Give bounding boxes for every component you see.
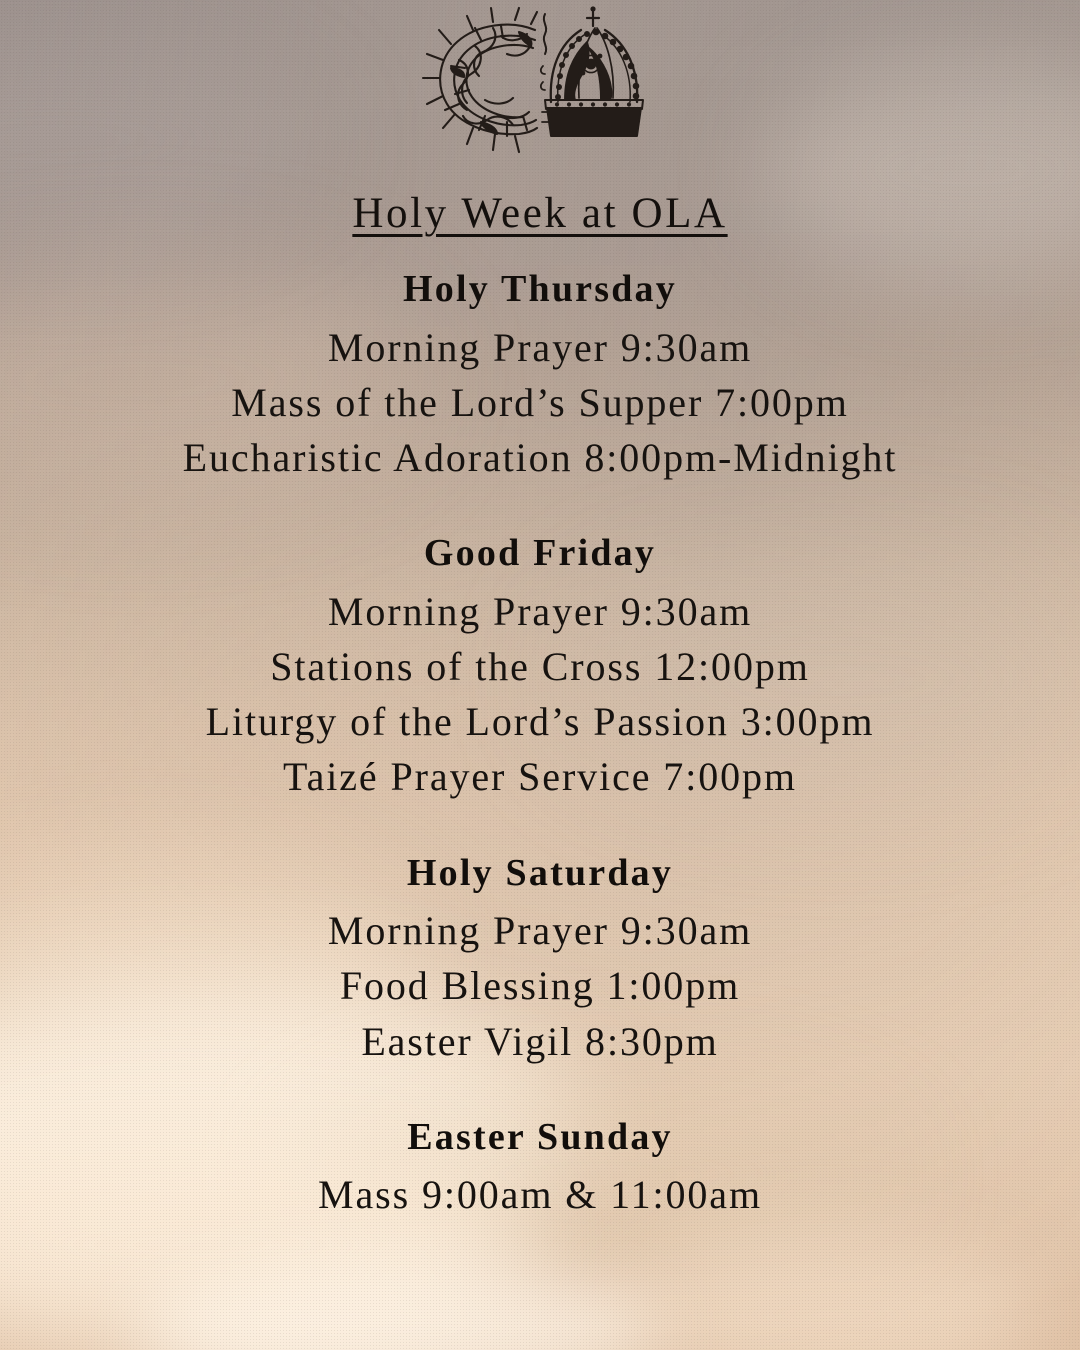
event-line: Liturgy of the Lord’s Passion 3:00pm [0, 694, 1080, 749]
event-line: Food Blessing 1:00pm [0, 958, 1080, 1013]
event-line: Morning Prayer 9:30am [0, 903, 1080, 958]
royal-crown-icon [541, 6, 643, 136]
holy-week-poster: Holy Week at OLA Holy ThursdayMorning Pr… [0, 0, 1080, 1350]
crown-of-thorns-icon [423, 8, 537, 152]
event-line: Eucharistic Adoration 8:00pm-Midnight [0, 430, 1080, 485]
day-heading: Good Friday [0, 529, 1080, 578]
poster-content: Holy Week at OLA Holy ThursdayMorning Pr… [0, 0, 1080, 1350]
event-line: Easter Vigil 8:30pm [0, 1014, 1080, 1069]
schedule-list: Holy ThursdayMorning Prayer 9:30amMass o… [0, 265, 1080, 1223]
day-block: Good FridayMorning Prayer 9:30amStations… [0, 529, 1080, 804]
day-block: Easter SundayMass 9:00am & 11:00am [0, 1113, 1080, 1223]
event-line: Morning Prayer 9:30am [0, 584, 1080, 639]
day-block: Holy SaturdayMorning Prayer 9:30amFood B… [0, 849, 1080, 1069]
day-heading: Holy Thursday [0, 265, 1080, 314]
event-line: Morning Prayer 9:30am [0, 320, 1080, 375]
crown-emblem [415, 4, 665, 154]
day-heading: Holy Saturday [0, 849, 1080, 898]
page-title: Holy Week at OLA [0, 189, 1080, 240]
event-line: Taizé Prayer Service 7:00pm [0, 749, 1080, 804]
event-line: Stations of the Cross 12:00pm [0, 639, 1080, 694]
event-line: Mass of the Lord’s Supper 7:00pm [0, 375, 1080, 430]
event-line: Mass 9:00am & 11:00am [0, 1167, 1080, 1222]
day-block: Holy ThursdayMorning Prayer 9:30amMass o… [0, 265, 1080, 485]
day-heading: Easter Sunday [0, 1113, 1080, 1162]
